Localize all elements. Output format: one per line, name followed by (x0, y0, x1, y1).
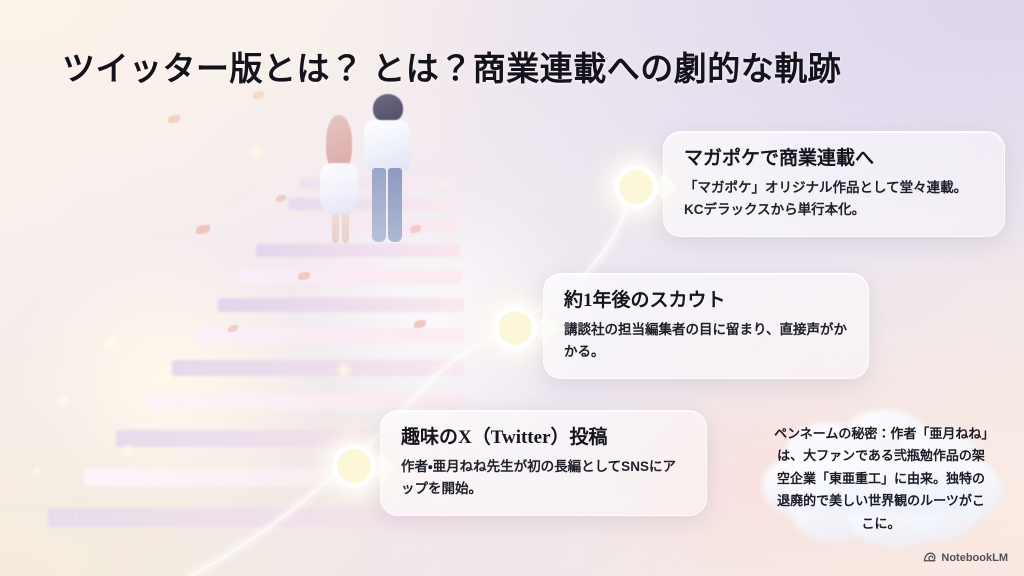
sparkle (244, 140, 268, 164)
timeline-card-title: 約1年後のスカウト (564, 288, 848, 314)
boy-hair (373, 94, 403, 122)
timeline-card-1[interactable]: 趣味のX（Twitter）投稿 作者・亜月ねね先生が初の長編としてSNSにアップ… (380, 410, 707, 516)
timeline-card-title: 趣味のX（Twitter）投稿 (401, 425, 686, 451)
figure-girl (316, 115, 362, 245)
girl-legs (342, 213, 349, 243)
timeline-card-body: 作者・亜月ねね先生が初の長編としてSNSにアップを開始。 (401, 456, 686, 500)
stair-step (238, 270, 462, 284)
boy-jeans (372, 168, 386, 242)
notebooklm-watermark: NotebookLM (923, 551, 1008, 564)
sparkle (330, 356, 358, 384)
timeline-dot-icon-1[interactable] (333, 445, 375, 487)
cloud-note-text: ペンネームの秘密：作者「亜月ねね」は、大ファンである弐瓶勉作品の架空企業「東亜重… (756, 404, 1006, 554)
stair-step (256, 244, 460, 257)
sparkle (118, 440, 138, 460)
boy-jeans (388, 168, 402, 242)
girl-legs (332, 213, 339, 243)
timeline-card-3[interactable]: マガポケで商業連載へ 「マガポケ」オリジナル作品として堂々連載。KCデラックスか… (663, 131, 1005, 237)
timeline-card-body: 「マガポケ」オリジナル作品として堂々連載。KCデラックスから単行本化。 (684, 177, 984, 221)
sparkle (150, 365, 176, 391)
page-title: ツイッター版とは？ とは？商業連載への劇的な軌跡 (62, 42, 841, 90)
boy-shirt (364, 120, 410, 172)
stair-step (146, 394, 464, 410)
timeline-card-body: 講談社の担当編集者の目に留まり、直接声がかかる。 (564, 319, 848, 363)
timeline-card-title: マガポケで商業連載へ (684, 146, 984, 172)
stair-step (218, 298, 464, 312)
notebooklm-label: NotebookLM (941, 552, 1008, 564)
sparkle (28, 462, 46, 480)
sparkle (52, 390, 74, 412)
girl-dress (320, 163, 358, 217)
cloud-note[interactable]: ペンネームの秘密：作者「亜月ねね」は、大ファンである弐瓶勉作品の架空企業「東亜重… (756, 404, 1006, 554)
notebooklm-spiral-icon (923, 551, 936, 564)
slide-canvas: ツイッター版とは？ とは？商業連載への劇的な軌跡 趣味のX（Twitter）投稿… (0, 0, 1024, 576)
timeline-dot-icon-3[interactable] (615, 166, 657, 208)
timeline-card-2[interactable]: 約1年後のスカウト 講談社の担当編集者の目に留まり、直接声がかかる。 (543, 273, 869, 379)
sparkle (96, 328, 126, 358)
stair-step (172, 360, 464, 376)
timeline-dot-icon-2[interactable] (494, 307, 536, 349)
figure-boy (360, 94, 414, 246)
